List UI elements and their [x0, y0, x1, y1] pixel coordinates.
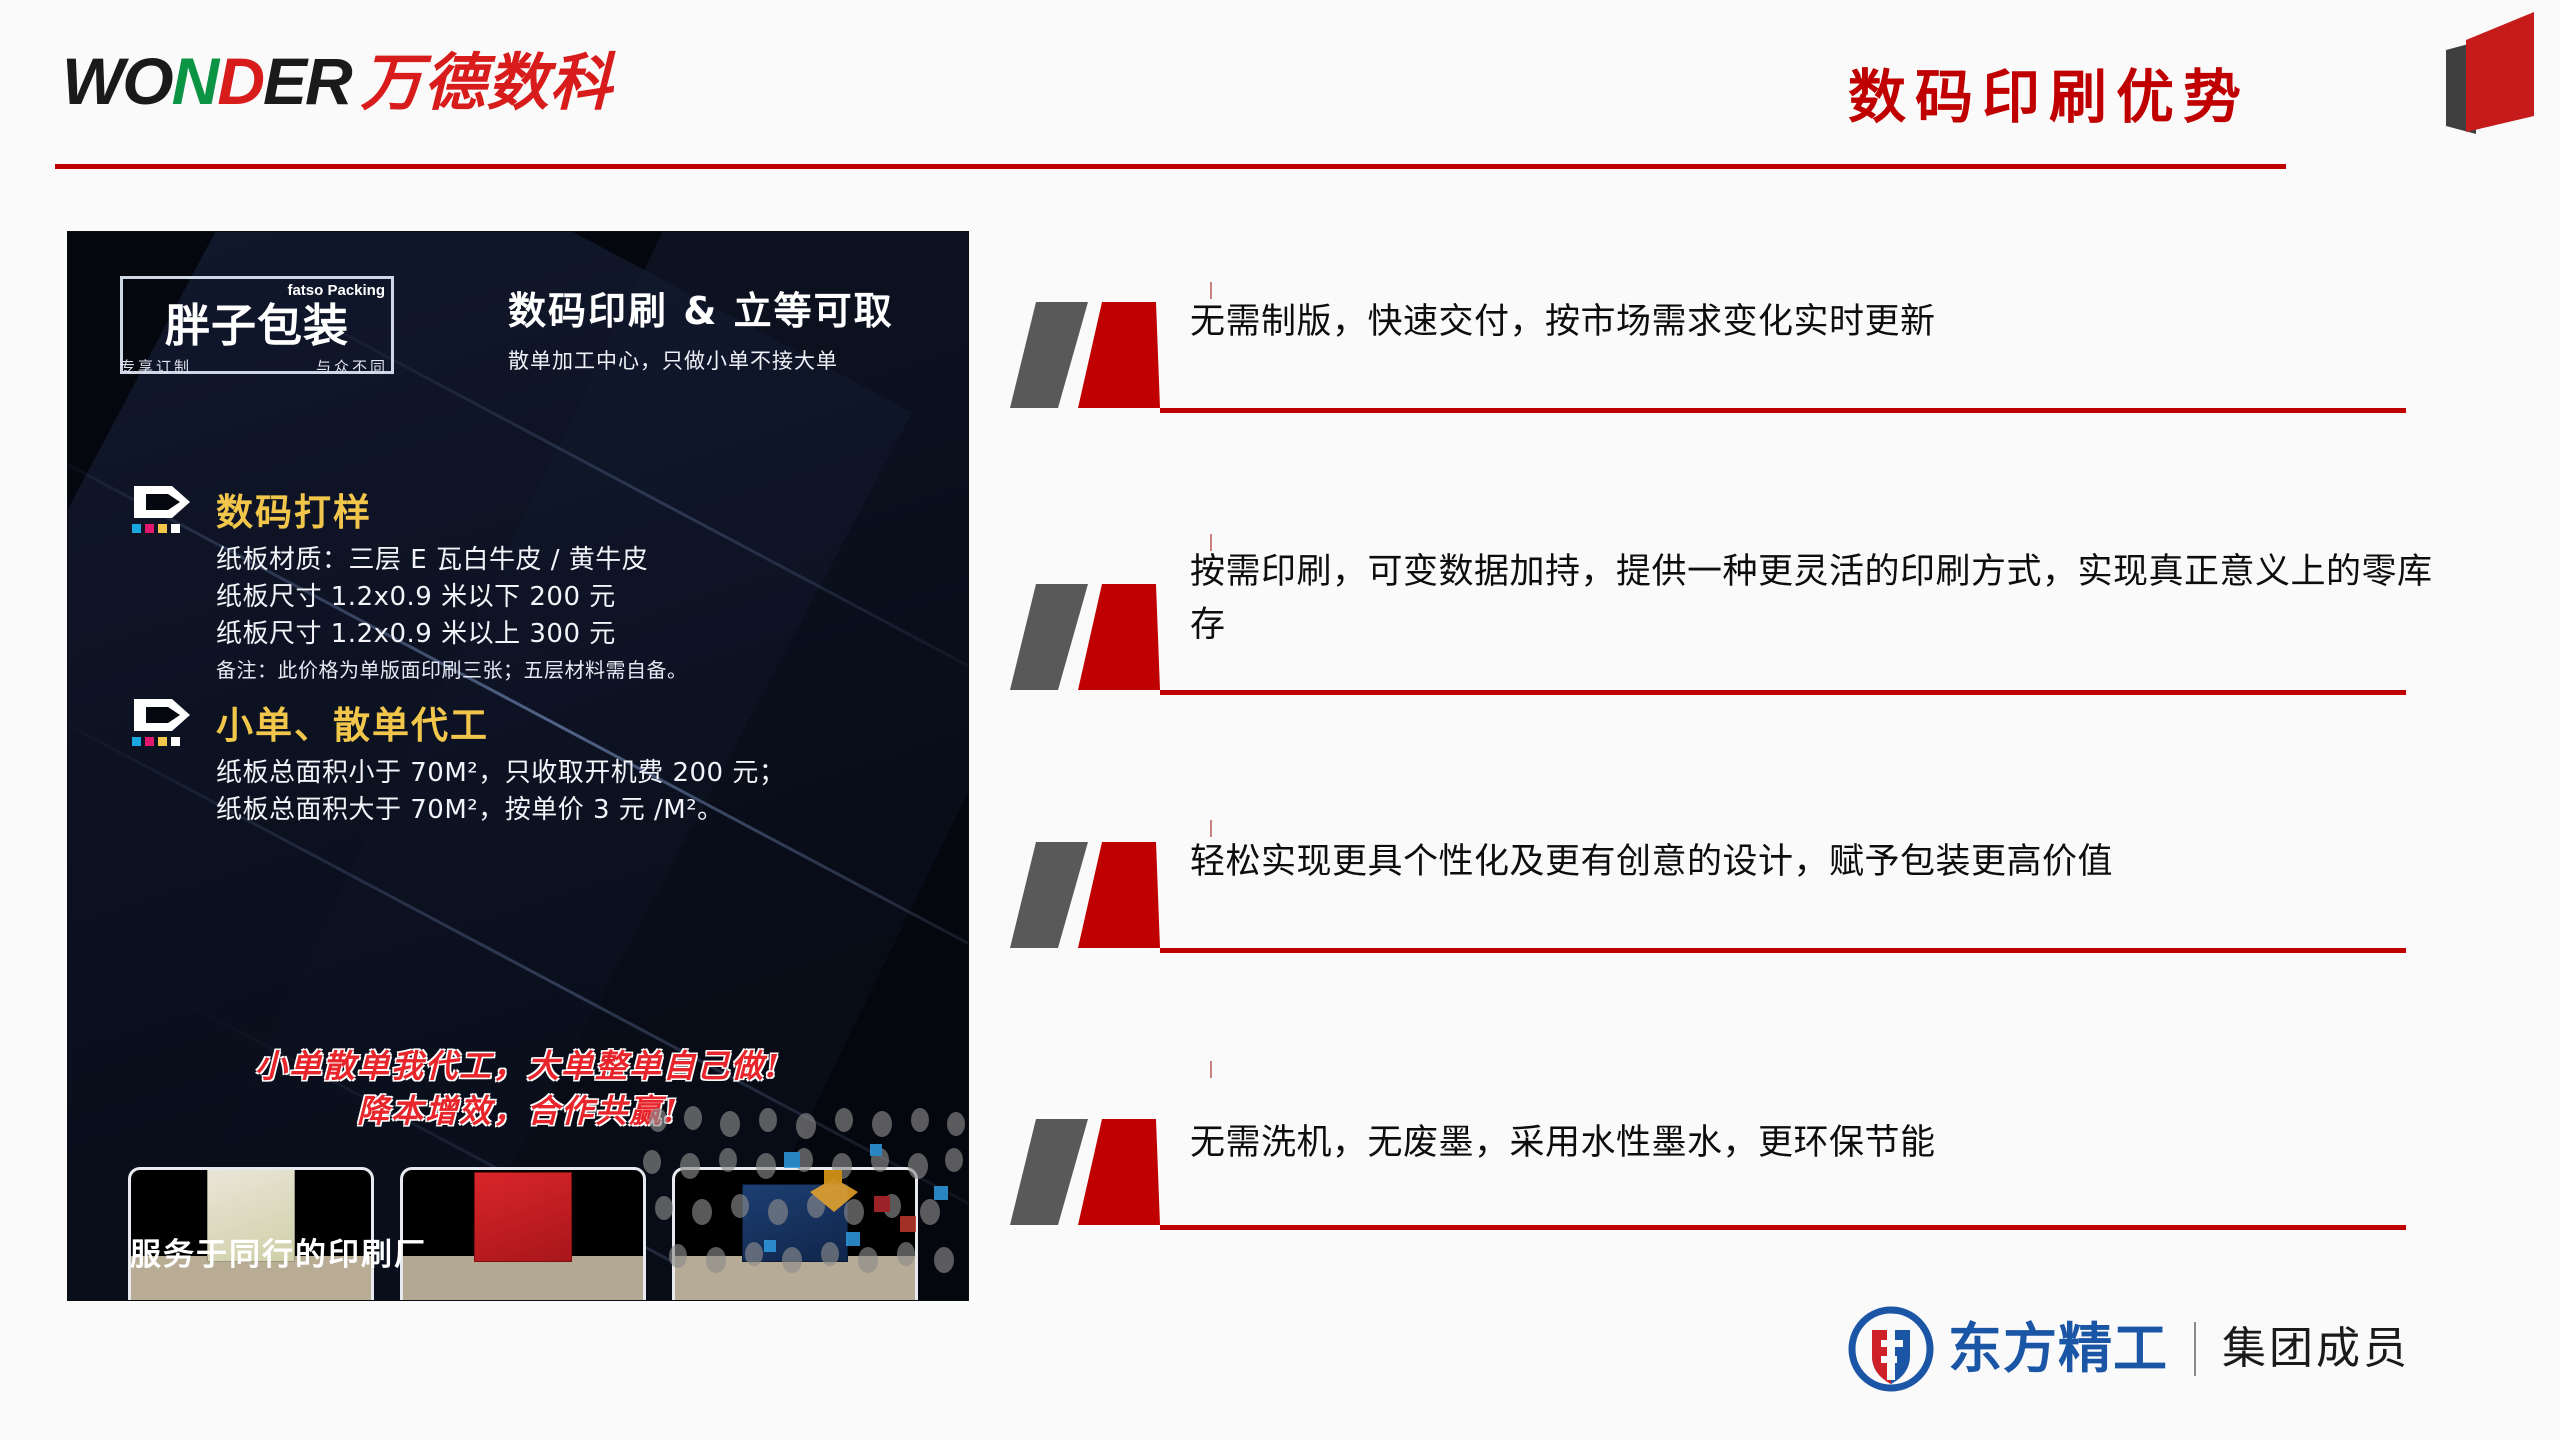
halftone-dots-decoration	[638, 1100, 968, 1300]
wonder-chinese-name: 万德数科	[361, 52, 613, 114]
poster-headline: 数码印刷 & 立等可取 散单加工中心，只做小单不接大单	[508, 280, 894, 375]
wonder-logo: WONDER 万德数科	[62, 48, 613, 114]
benefit-underline	[1160, 408, 2406, 413]
poster-section-oem: 小单、散单代工 纸板总面积小于 70M²，只收取开机费 200 元； 纸板总面积…	[128, 695, 785, 829]
promo-poster-image: 胖子包装 fatso Packing 专享订制 与众不同 数码印刷 & 立等可取…	[68, 232, 968, 1300]
tick-mark	[1210, 1061, 1212, 1078]
chevron-marker-icon	[1010, 1113, 1188, 1231]
section-line: 纸板尺寸 1.2x0.9 米以上 300 元	[216, 616, 688, 653]
wonder-er: ER	[263, 48, 351, 114]
benefit-text: 轻松实现更具个性化及更有创意的设计，赋予包装更高价值	[1190, 836, 2113, 895]
footer-brand: 东方精工 集团成员	[1848, 1306, 2410, 1392]
section-line: 纸板总面积大于 70M²，按单价 3 元 /M²。	[216, 792, 785, 829]
tagline-left: 专享订制	[120, 356, 192, 377]
benefit-item-4: 无需洗机，无废墨，采用水性墨水，更环保节能	[1010, 1077, 1936, 1176]
section-line: 纸板尺寸 1.2x0.9 米以下 200 元	[216, 579, 688, 616]
section-lines: 纸板总面积小于 70M²，只收取开机费 200 元； 纸板总面积大于 70M²，…	[216, 755, 785, 829]
footer-company-text: 东方精工	[1948, 1322, 2168, 1376]
section-title: 小单、散单代工	[216, 695, 785, 749]
poster-headline-sub: 散单加工中心，只做小单不接大单	[508, 345, 894, 375]
section-lines: 纸板材质：三层 E 瓦白牛皮 / 黄牛皮 纸板尺寸 1.2x0.9 米以下 20…	[216, 542, 688, 684]
benefit-text: 无需洗机，无废墨，采用水性墨水，更环保节能	[1190, 1077, 1936, 1176]
poster-footer-text: 服务于同行的印刷厂	[130, 1229, 427, 1274]
poster-headline-main: 数码印刷 & 立等可取	[508, 280, 894, 335]
benefit-item-2: 按需印刷，可变数据加持，提供一种更灵活的印刷方式，实现真正意义上的零库存	[1010, 546, 2440, 657]
benefit-text: 无需制版，快速交付，按市场需求变化实时更新	[1190, 296, 1936, 355]
benefit-underline	[1160, 1225, 2406, 1230]
section-title: 数码打样	[216, 482, 688, 536]
wonder-wo: WO	[62, 48, 172, 114]
poster-section-proofing: 数码打样 纸板材质：三层 E 瓦白牛皮 / 黄牛皮 纸板尺寸 1.2x0.9 米…	[128, 482, 688, 684]
benefit-text: 按需印刷，可变数据加持，提供一种更灵活的印刷方式，实现真正意义上的零库存	[1190, 546, 2440, 657]
wonder-d: D	[217, 48, 263, 114]
footer-company-name: 东方精工	[1948, 1322, 2168, 1376]
benefit-underline	[1160, 690, 2406, 695]
slogan-line-1: 小单散单我代工，大单整单自己做!	[68, 1044, 968, 1089]
chevron-marker-icon	[1010, 296, 1188, 414]
section-line: 纸板材质：三层 E 瓦白牛皮 / 黄牛皮	[216, 542, 688, 579]
fatso-logo-tagline: 专享订制 与众不同	[120, 356, 388, 377]
tagline-right: 与众不同	[316, 356, 388, 377]
benefit-item-1: 无需制版，快速交付，按市场需求变化实时更新	[1010, 296, 1936, 355]
tick-mark	[1210, 820, 1212, 837]
fatso-logo-text: 胖子包装	[165, 303, 349, 348]
footer-member-label: 集团成员	[2222, 1327, 2410, 1371]
arrow-bullet-icon	[128, 484, 208, 536]
benefit-underline	[1160, 948, 2406, 953]
dongfang-jinggong-logo-icon	[1848, 1306, 1934, 1392]
section-note: 备注：此价格为单版面印刷三张；五层材料需自备。	[216, 656, 688, 684]
page-title: 数码印刷优势	[1848, 50, 2250, 134]
tick-mark	[1210, 534, 1212, 551]
wonder-n: N	[172, 48, 218, 114]
fatso-logo-en: fatso Packing	[287, 282, 385, 299]
footer-divider	[2194, 1322, 2196, 1376]
section-line: 纸板总面积小于 70M²，只收取开机费 200 元；	[216, 755, 785, 792]
chevron-marker-icon	[1010, 836, 1188, 954]
wonder-wordmark: WONDER	[62, 48, 351, 114]
product-photo	[400, 1167, 646, 1300]
arrow-bullet-icon	[128, 697, 208, 749]
header-divider	[55, 164, 2286, 169]
benefit-item-3: 轻松实现更具个性化及更有创意的设计，赋予包装更高价值	[1010, 836, 2113, 895]
slide: WONDER 万德数科 数码印刷优势 胖子包装 fatso Packing 专享…	[0, 0, 2560, 1440]
tick-mark	[1210, 282, 1212, 299]
chevron-marker-icon	[1010, 578, 1188, 696]
corner-decoration-icon	[2438, 4, 2542, 134]
